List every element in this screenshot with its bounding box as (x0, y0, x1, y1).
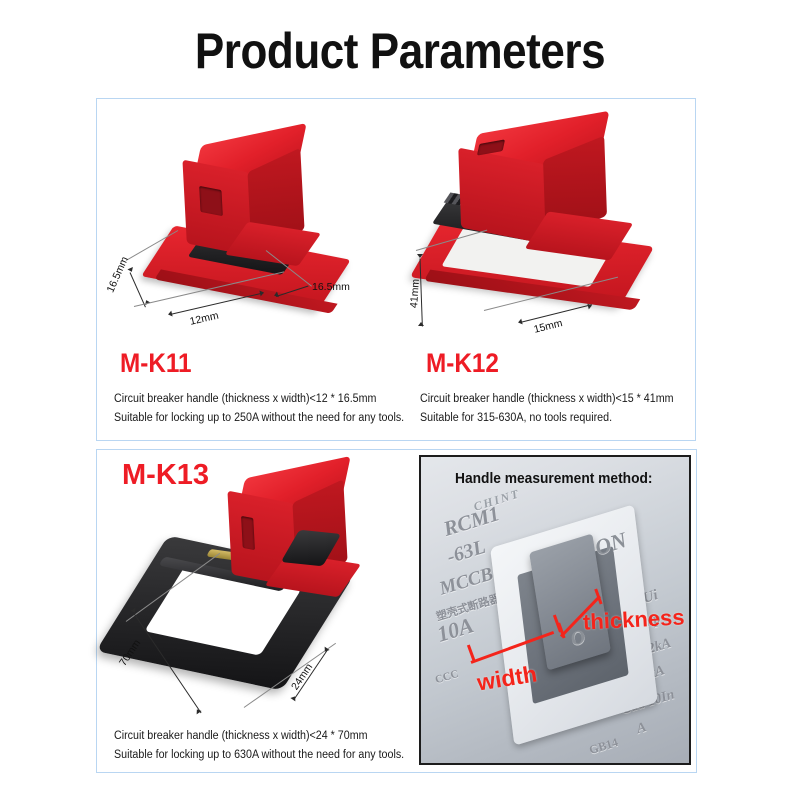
padlock-slot (199, 186, 223, 216)
handle-measurement-photo: CHINT RCM1 -63L MCCB 塑壳式断路器 10A CCC Ui U… (419, 455, 691, 765)
product-description-m-k13: Circuit breaker handle (thickness x widt… (114, 727, 404, 765)
dim-label-left: 41mm (408, 278, 422, 308)
product-image-m-k13 (112, 469, 402, 719)
spec-line: Circuit breaker handle (thickness x widt… (114, 727, 404, 746)
product-description-m-k12: Circuit breaker handle (thickness x widt… (420, 390, 674, 428)
product-card-m-k12: 41mm 15mm M-K12 Circuit breaker handle (… (398, 100, 694, 439)
usage-line: Suitable for locking up to 630A without … (114, 746, 404, 765)
product-card-m-k11: 16.5mm 12mm 16.5mm M-K11 Circuit breaker… (98, 100, 398, 439)
thickness-callout-label: thickness (582, 604, 685, 635)
product-parameters-page: Product Parameters (0, 0, 800, 800)
product-card-m-k13: 70mm 24mm M-K13 Circuit breaker handle (… (98, 451, 414, 771)
dim-label-right: 16.5mm (312, 281, 350, 293)
page-title: Product Parameters (48, 22, 752, 80)
spec-line: Circuit breaker handle (thickness x widt… (114, 390, 404, 409)
spec-line: Circuit breaker handle (thickness x widt… (420, 390, 674, 409)
usage-line: Suitable for 315-630A, no tools required… (420, 409, 674, 428)
product-image-m-k12 (416, 124, 681, 339)
dim-label-left: 16.5mm (105, 255, 131, 295)
product-description-m-k11: Circuit breaker handle (thickness x widt… (114, 390, 404, 428)
model-label-m-k12: M-K12 (426, 348, 499, 379)
padlock-slot (241, 516, 255, 550)
model-label-m-k13: M-K13 (122, 459, 209, 492)
usage-line: Suitable for locking up to 250A without … (114, 409, 404, 428)
photo-panel-title: Handle measurement method: (455, 471, 652, 487)
model-label-m-k11: M-K11 (120, 348, 192, 379)
